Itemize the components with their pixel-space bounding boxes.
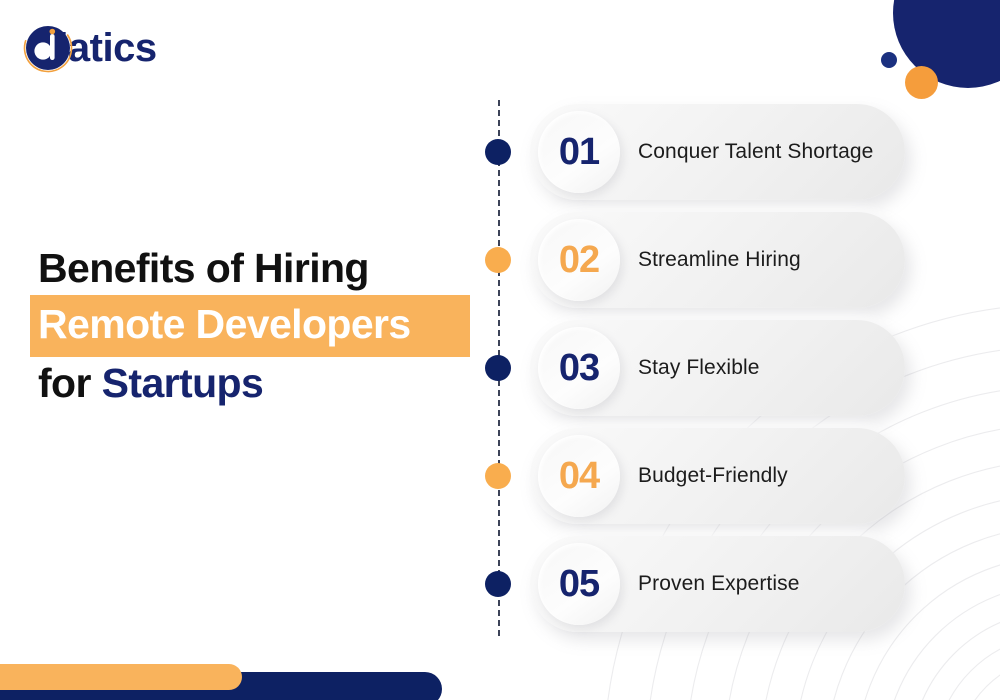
benefit-card-1[interactable]: 01 Conquer Talent Shortage	[530, 104, 905, 200]
orange-bar-decoration	[0, 664, 242, 690]
benefit-number-badge-1: 01	[538, 111, 620, 193]
headline-line-2: Remote Developers	[30, 295, 470, 356]
benefit-number-badge-2: 02	[538, 219, 620, 301]
benefit-label-3: Stay Flexible	[638, 355, 760, 382]
headline-line-3-accent: Startups	[102, 360, 264, 406]
benefit-label-1: Conquer Talent Shortage	[638, 139, 873, 166]
benefit-number-5: 05	[559, 565, 599, 603]
navy-dot-icon	[881, 52, 897, 68]
orange-circle-icon	[905, 66, 938, 99]
benefit-number-4: 04	[559, 457, 599, 495]
datics-circular-monogram-icon	[22, 22, 74, 74]
timeline-dot-4	[485, 463, 511, 489]
headline-line-3: for Startups	[38, 357, 498, 410]
benefit-number-badge-5: 05	[538, 543, 620, 625]
benefit-card-3[interactable]: 03 Stay Flexible	[530, 320, 905, 416]
benefit-label-4: Budget-Friendly	[638, 463, 788, 490]
headline-line-3-prefix: for	[38, 360, 102, 406]
benefit-label-2: Streamline Hiring	[638, 247, 801, 274]
benefit-number-3: 03	[559, 349, 599, 387]
benefit-number-1: 01	[559, 133, 599, 171]
benefit-number-badge-3: 03	[538, 327, 620, 409]
headline-line-1: Benefits of Hiring	[38, 242, 498, 295]
benefit-label-5: Proven Expertise	[638, 571, 800, 598]
timeline-dot-1	[485, 139, 511, 165]
timeline-dot-2	[485, 247, 511, 273]
timeline-dot-5	[485, 571, 511, 597]
benefit-card-4[interactable]: 04 Budget-Friendly	[530, 428, 905, 524]
benefit-card-5[interactable]: 05 Proven Expertise	[530, 536, 905, 632]
infographic-canvas: datics Benefits of Hiring Remote Develop…	[0, 0, 1000, 700]
benefit-number-2: 02	[559, 241, 599, 279]
page-title: Benefits of Hiring Remote Developers for…	[38, 242, 498, 410]
brand-logo[interactable]: datics	[22, 22, 157, 74]
benefit-number-badge-4: 04	[538, 435, 620, 517]
timeline-dot-3	[485, 355, 511, 381]
benefit-card-2[interactable]: 02 Streamline Hiring	[530, 212, 905, 308]
